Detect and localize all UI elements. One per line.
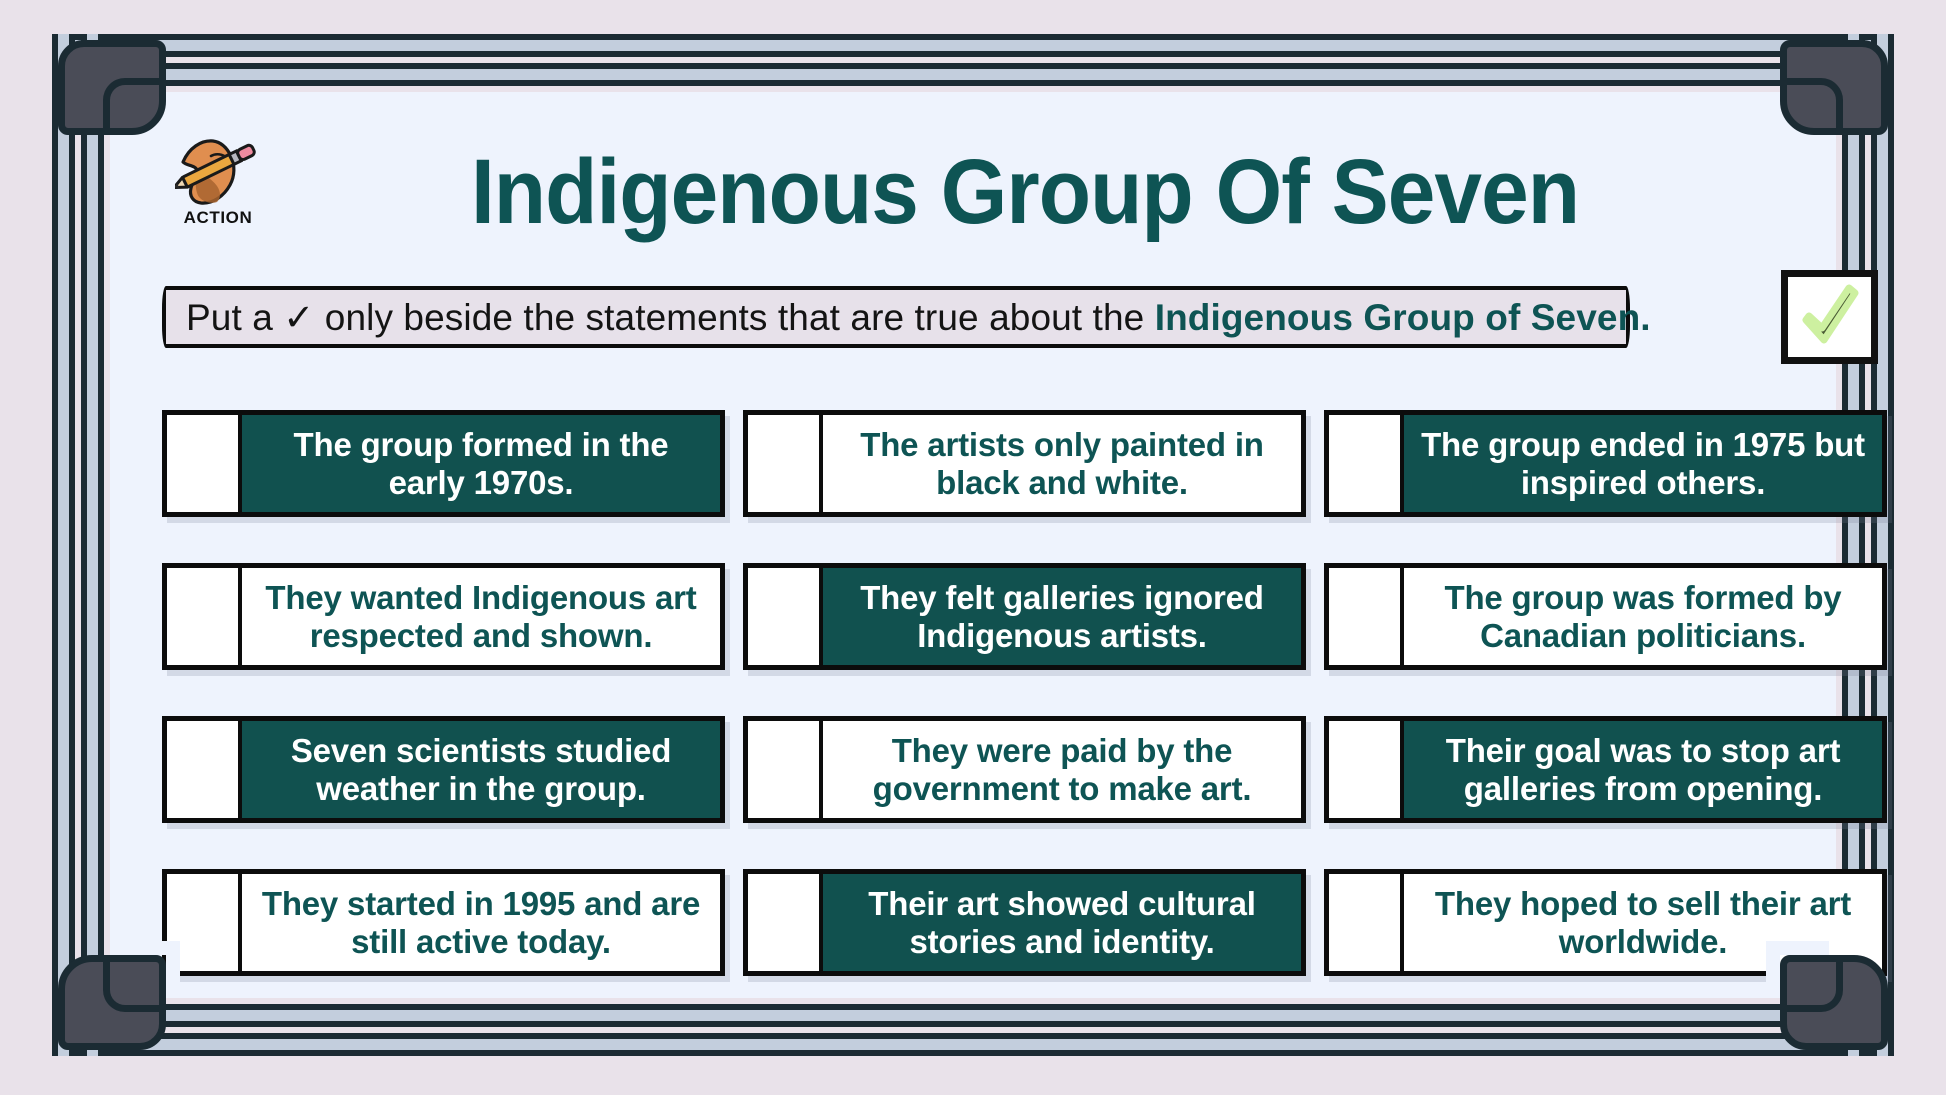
statement-checkbox[interactable] (1324, 869, 1404, 976)
page-title: Indigenous Group Of Seven (222, 146, 1827, 240)
statement-row: Their goal was to stop art galleries fro… (1324, 716, 1887, 823)
statement-checkbox[interactable] (743, 410, 823, 517)
frame-rail-bottom-outer (52, 1033, 1894, 1056)
statement-text: They felt galleries ignored Indigenous a… (823, 563, 1306, 670)
action-badge: ACTION (170, 132, 266, 228)
statement-text: Seven scientists studied weather in the … (242, 716, 725, 823)
frame-corner-top-left (58, 40, 166, 135)
statement-checkbox[interactable] (743, 869, 823, 976)
instruction-banner: Put a ✓ only beside the statements that … (162, 286, 1630, 348)
instruction-text-bold: Indigenous Group of Seven. (1155, 297, 1651, 338)
action-badge-label: ACTION (170, 208, 266, 228)
frame-rail-left-outer (52, 34, 75, 1056)
statement-row: They were paid by the government to make… (743, 716, 1306, 823)
frame-corner-bottom-right (1780, 955, 1888, 1050)
frame-rail-top-inner (52, 63, 1894, 86)
worksheet-content: ACTION Indigenous Group Of Seven Put a ✓… (162, 126, 1888, 1032)
statement-row: The artists only painted in black and wh… (743, 410, 1306, 517)
hand-with-pencil-icon (175, 132, 261, 210)
frame-corner-top-right (1780, 40, 1888, 135)
statement-text: The group was formed by Canadian politic… (1404, 563, 1887, 670)
frame-rail-top-outer (52, 34, 1894, 57)
instruction-text-before: Put a (186, 297, 283, 338)
statement-checkbox[interactable] (743, 716, 823, 823)
instruction-text-middle: only beside the statements that are true… (314, 297, 1154, 338)
statement-row: They started in 1995 and are still activ… (162, 869, 725, 976)
statement-checkbox[interactable] (162, 716, 242, 823)
statement-row: They wanted Indigenous art respected and… (162, 563, 725, 670)
statement-text: The artists only painted in black and wh… (823, 410, 1306, 517)
statement-text: They were paid by the government to make… (823, 716, 1306, 823)
checkmark-example-box (1781, 270, 1878, 364)
statement-checkbox[interactable] (162, 410, 242, 517)
statement-row: The group formed in the early 1970s. (162, 410, 725, 517)
statement-text: The group ended in 1975 but inspired oth… (1404, 410, 1887, 517)
statement-row: They felt galleries ignored Indigenous a… (743, 563, 1306, 670)
statement-text: Their goal was to stop art galleries fro… (1404, 716, 1887, 823)
statement-checkbox[interactable] (162, 563, 242, 670)
statement-text: They started in 1995 and are still activ… (242, 869, 725, 976)
instruction-text: Put a ✓ only beside the statements that … (186, 299, 1651, 336)
statement-text: They wanted Indigenous art respected and… (242, 563, 725, 670)
statement-text: Their art showed cultural stories and id… (823, 869, 1306, 976)
statement-row: The group was formed by Canadian politic… (1324, 563, 1887, 670)
statement-checkbox[interactable] (1324, 410, 1404, 517)
statement-checkbox[interactable] (743, 563, 823, 670)
decorative-frame: ACTION Indigenous Group Of Seven Put a ✓… (52, 34, 1894, 1056)
statement-checkbox[interactable] (162, 869, 242, 976)
statement-row: The group ended in 1975 but inspired oth… (1324, 410, 1887, 517)
statement-grid: The group formed in the early 1970s.The … (162, 410, 1888, 976)
checkmark-icon (1797, 282, 1863, 352)
statement-text: The group formed in the early 1970s. (242, 410, 725, 517)
frame-rail-left-inner (81, 34, 104, 1056)
frame-corner-bottom-left (58, 955, 166, 1050)
statement-checkbox[interactable] (1324, 716, 1404, 823)
statement-checkbox[interactable] (1324, 563, 1404, 670)
instruction-check-glyph: ✓ (283, 297, 314, 338)
statement-row: Their art showed cultural stories and id… (743, 869, 1306, 976)
statement-row: Seven scientists studied weather in the … (162, 716, 725, 823)
